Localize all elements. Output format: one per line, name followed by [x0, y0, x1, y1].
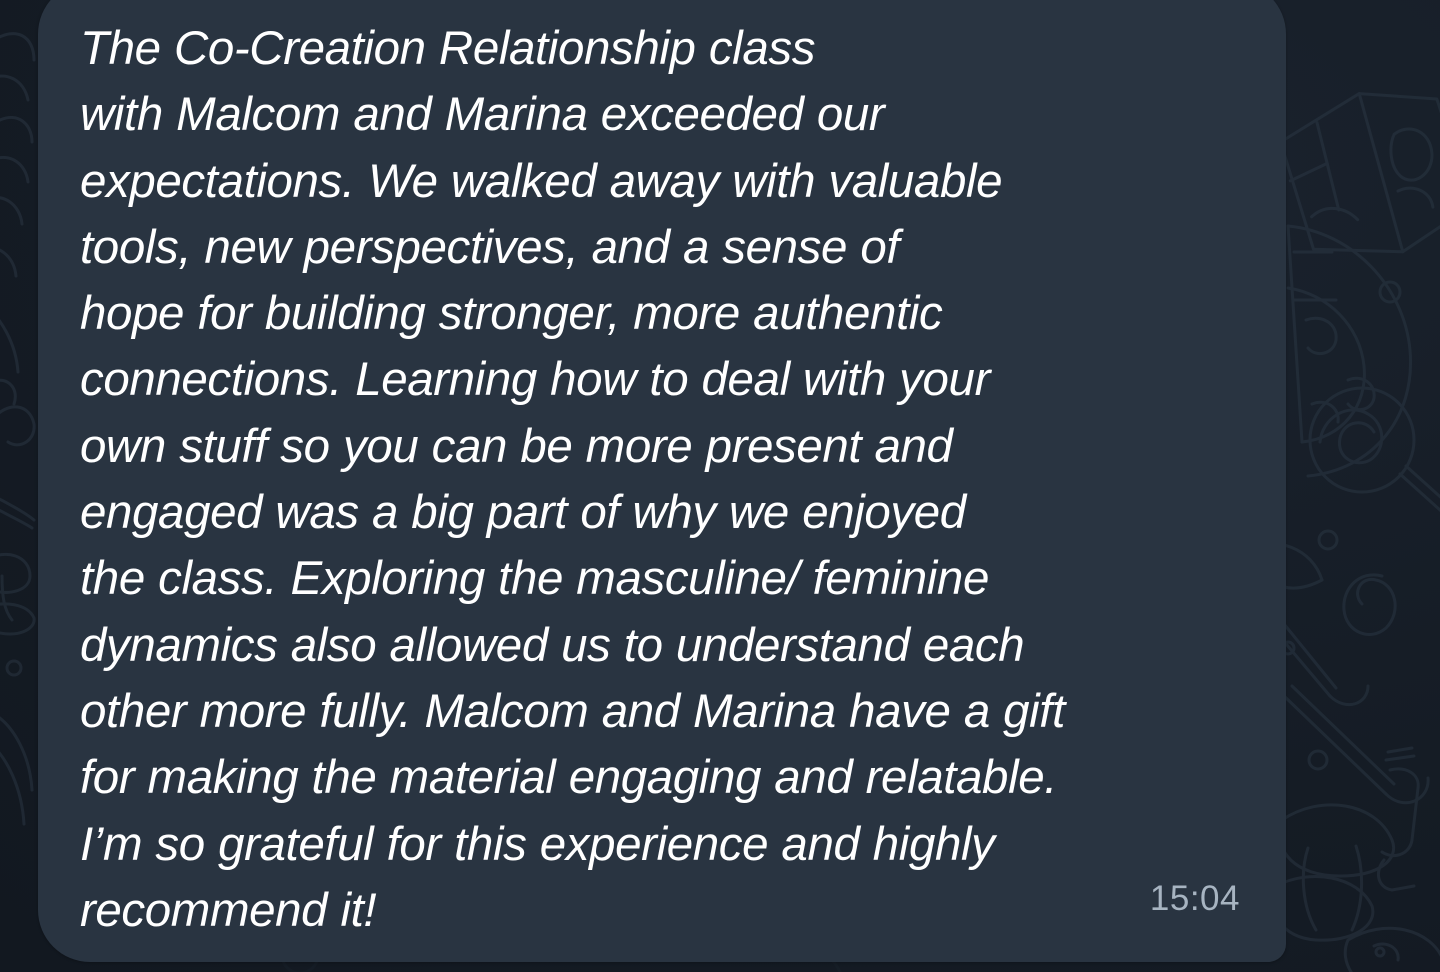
- message-row: The Co-Creation Relationship class with …: [0, 0, 1440, 972]
- message-timestamp: 15:04: [1150, 881, 1240, 916]
- message-bubble[interactable]: The Co-Creation Relationship class with …: [38, 0, 1286, 962]
- message-meta: 15:04: [1150, 881, 1240, 916]
- telegram-chat-screen: The Co-Creation Relationship class with …: [0, 0, 1440, 972]
- message-text: The Co-Creation Relationship class with …: [80, 16, 1248, 944]
